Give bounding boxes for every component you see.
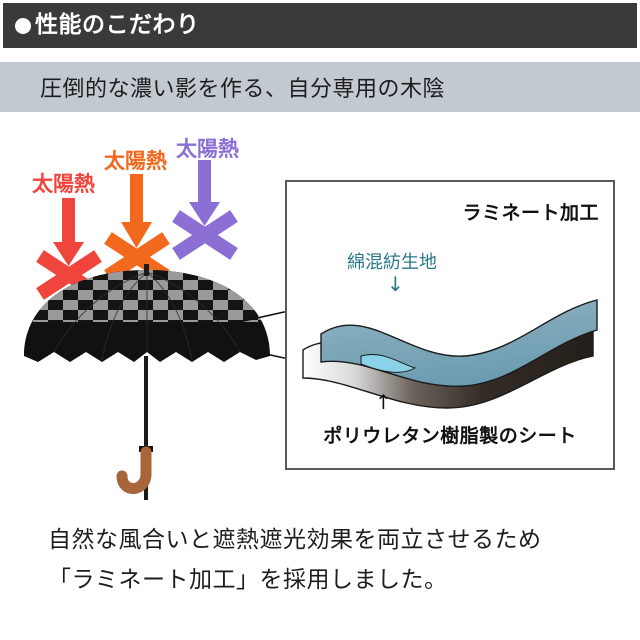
heat-arrow-orange-icon [121, 174, 152, 248]
bullet-icon [15, 18, 31, 34]
section-header-bar: 性能のこだわり [3, 3, 637, 48]
resin-sheet-label: ポリウレタン樹脂製のシート [287, 421, 613, 448]
fabric-layers-diagram [297, 286, 607, 416]
subtitle-text: 圧倒的な濃い影を作る、自分専用の木陰 [40, 71, 445, 103]
umbrella-handle [122, 452, 146, 489]
sheet-up-arrow-icon: ↑ [375, 392, 392, 412]
body-text-line-2: 「ラミネート加工」を採用しました。 [48, 560, 608, 600]
subtitle-band: 圧倒的な濃い影を作る、自分専用の木陰 [0, 62, 640, 112]
laminate-diagram-box: ラミネート加工 綿混紡生地 ↓ [285, 180, 615, 470]
body-text-block: 自然な風合いと遮熱遮光効果を両立させるため 「ラミネート加工」を採用しました。 [48, 520, 608, 600]
heat-arrow-purple-icon [189, 160, 220, 226]
fabric-layer-label: 綿混紡生地 [347, 248, 437, 274]
page-title: 性能のこだわり [35, 14, 200, 37]
umbrella-tip [144, 264, 149, 276]
illustration-stage: 太陽熱 太陽熱 太陽熱 [0, 112, 640, 502]
heat-arrow-red-icon [53, 198, 84, 266]
body-text-line-1: 自然な風合いと遮熱遮光効果を両立させるため [48, 520, 608, 560]
diagram-title: ラミネート加工 [462, 198, 599, 225]
